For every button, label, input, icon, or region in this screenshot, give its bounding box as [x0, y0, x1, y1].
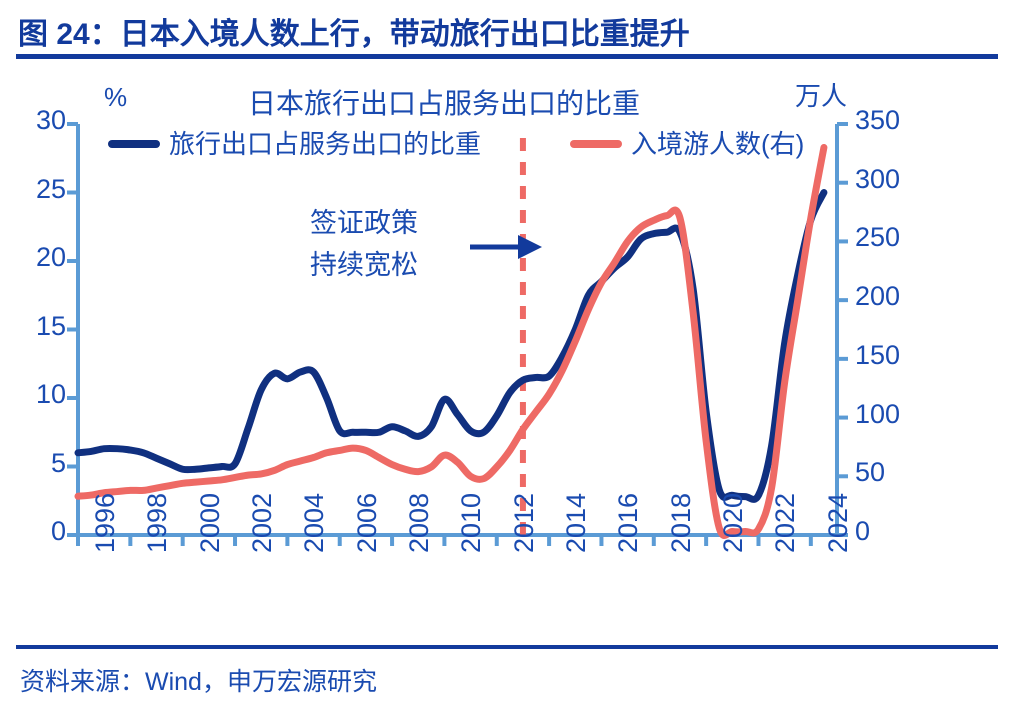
x-axis-tick-label: 2020	[718, 493, 749, 553]
left-axis-unit: %	[104, 82, 127, 113]
legend-item-travel-export-share: 旅行出口占服务出口的比重	[108, 131, 481, 157]
right-axis-tick-label: 100	[855, 399, 935, 430]
right-axis-tick-label: 350	[855, 105, 935, 136]
title-divider	[16, 54, 998, 59]
source-note: 资料来源：Wind，申万宏源研究	[20, 662, 377, 698]
left-axis-tick-label: 10	[8, 379, 66, 410]
x-axis-tick-label: 2014	[561, 493, 592, 553]
x-axis-tick-label: 2022	[770, 493, 801, 553]
legend-label-travel-export-share: 旅行出口占服务出口的比重	[169, 131, 481, 157]
right-axis-unit: 万人	[795, 76, 847, 113]
footer-divider	[16, 645, 998, 649]
right-axis-tick-label: 300	[855, 164, 935, 195]
left-axis-tick-label: 5	[8, 448, 66, 479]
legend-swatch-blue	[108, 140, 160, 148]
x-axis-tick-label: 2018	[666, 493, 697, 553]
x-axis-tick-label: 2002	[247, 493, 278, 553]
right-axis-tick-label: 150	[855, 340, 935, 371]
x-axis-tick-label: 2024	[823, 493, 854, 553]
right-arrow-icon	[518, 235, 542, 259]
x-axis-tick-label: 2008	[404, 493, 435, 553]
annotation-line-1: 签证政策	[310, 203, 418, 245]
left-axis-tick-label: 15	[8, 311, 66, 342]
figure-page: 图 24：日本入境人数上行，带动旅行出口比重提升 % 万人 日本旅行出口占服务出…	[0, 0, 1014, 718]
annotation-line-2: 持续宽松	[310, 245, 418, 287]
series-line-inbound-visitors	[78, 147, 824, 535]
left-axis-tick-label: 20	[8, 242, 66, 273]
left-axis-tick-label: 0	[8, 516, 66, 547]
left-axis-tick-label: 30	[8, 105, 66, 136]
x-axis-tick-label: 2006	[352, 493, 383, 553]
x-axis-tick-label: 1996	[90, 493, 121, 553]
right-axis-tick-label: 0	[855, 516, 935, 547]
x-axis-tick-label: 1998	[142, 493, 173, 553]
legend-swatch-red	[570, 140, 622, 148]
x-axis-tick-label: 2000	[195, 493, 226, 553]
chart-legend: 旅行出口占服务出口的比重 入境游人数(右)	[108, 131, 868, 163]
x-axis-tick-label: 2012	[509, 493, 540, 553]
x-axis-tick-label: 2010	[456, 493, 487, 553]
right-axis-tick-label: 200	[855, 281, 935, 312]
right-axis-tick-label: 50	[855, 457, 935, 488]
x-axis-tick-label: 2016	[613, 493, 644, 553]
legend-label-inbound-visitors: 入境游人数(右)	[631, 131, 804, 157]
right-axis-tick-label: 250	[855, 222, 935, 253]
legend-item-inbound-visitors: 入境游人数(右)	[570, 131, 804, 157]
left-axis-tick-label: 25	[8, 174, 66, 205]
chart-title: 日本旅行出口占服务出口的比重	[248, 82, 640, 122]
annotation-visa-policy: 签证政策 持续宽松	[310, 203, 418, 287]
page-title: 图 24：日本入境人数上行，带动旅行出口比重提升	[18, 9, 690, 53]
x-axis-tick-label: 2004	[299, 493, 330, 553]
